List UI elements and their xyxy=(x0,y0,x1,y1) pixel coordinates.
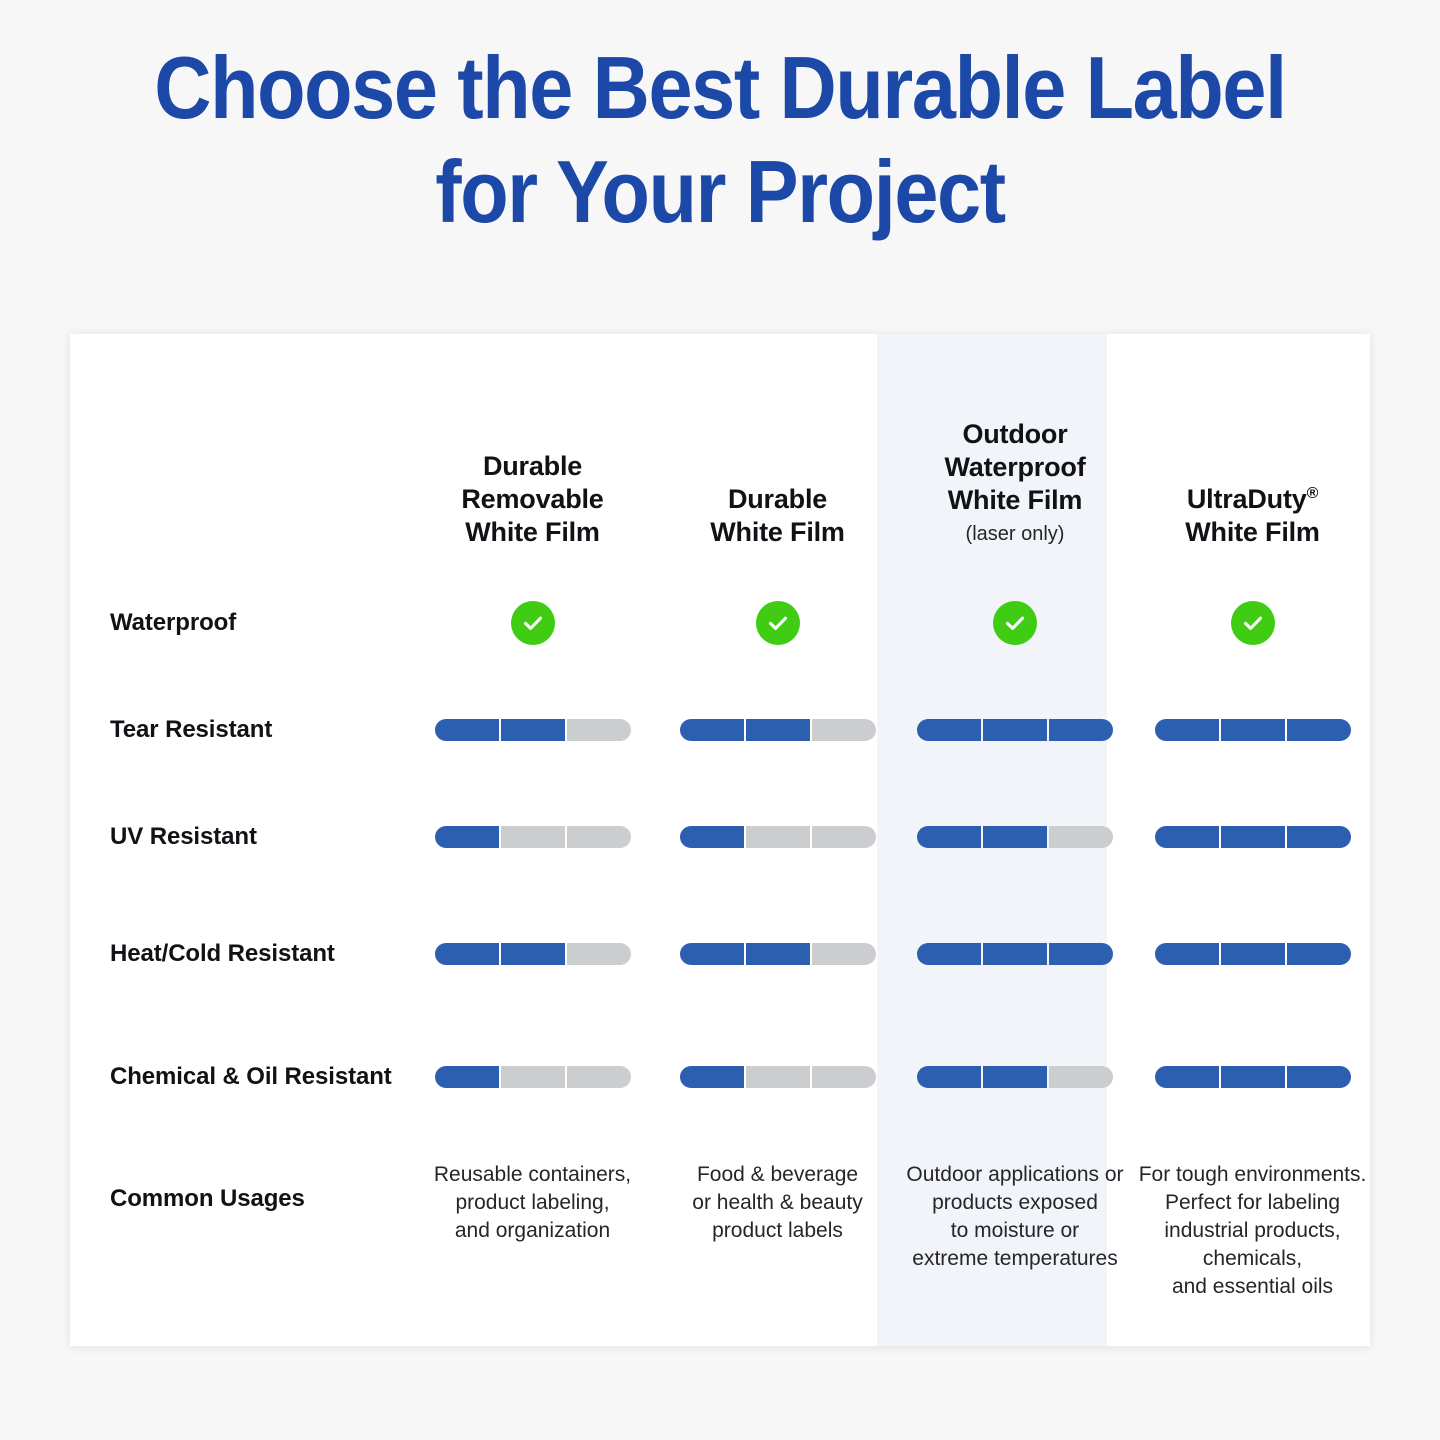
rating-bar xyxy=(917,826,1113,848)
rating-bar xyxy=(1155,826,1351,848)
rating-bar xyxy=(680,719,876,741)
cell-waterproof-durable-removable-white-film xyxy=(410,569,655,677)
row-label-uv-resistant: UV Resistant xyxy=(90,782,410,892)
rating-segment xyxy=(501,719,565,741)
comparison-table-card: Durable Removable White Film Durable Whi… xyxy=(70,334,1370,1346)
check-circle-icon xyxy=(1231,601,1275,645)
rating-segment xyxy=(1155,719,1219,741)
rating-segment xyxy=(983,826,1047,848)
column-header-durable-white-film: Durable White Film xyxy=(655,334,900,569)
rating-segment xyxy=(1049,826,1113,848)
rating-bar xyxy=(680,1066,876,1088)
rating-segment xyxy=(567,943,631,965)
rating-segment xyxy=(983,1066,1047,1088)
rating-segment xyxy=(680,826,744,848)
page-title-line-2: for Your Project xyxy=(72,140,1368,244)
comparison-table-grid: Durable Removable White Film Durable Whi… xyxy=(70,334,1370,1346)
rating-segment xyxy=(567,826,631,848)
rating-segment xyxy=(1049,943,1113,965)
infographic-page: Choose the Best Durable Label for Your P… xyxy=(0,0,1440,1440)
rating-segment xyxy=(1155,943,1219,965)
cell-waterproof-outdoor-waterproof-white-film xyxy=(900,569,1130,677)
column-header-line-1: UltraDuty xyxy=(1187,484,1307,514)
rating-segment xyxy=(435,943,499,965)
column-header-durable-removable-white-film: Durable Removable White Film xyxy=(410,334,655,569)
rating-segment xyxy=(1221,1066,1285,1088)
rating-segment xyxy=(1221,943,1285,965)
rating-bar xyxy=(435,1066,631,1088)
rating-segment xyxy=(812,943,876,965)
row-label-chemical-oil-resistant: Chemical & Oil Resistant xyxy=(90,1015,410,1139)
rating-segment xyxy=(567,1066,631,1088)
rating-bar xyxy=(917,719,1113,741)
column-header-line-1: Durable xyxy=(728,484,827,514)
rating-segment xyxy=(501,1066,565,1088)
rating-segment xyxy=(983,719,1047,741)
usage-text: For tough environments.Perfect for label… xyxy=(1136,1161,1369,1301)
rating-bar xyxy=(680,943,876,965)
column-header-line-2: White Film xyxy=(710,517,845,547)
page-title: Choose the Best Durable Label for Your P… xyxy=(0,36,1440,244)
rating-bar xyxy=(917,1066,1113,1088)
rating-bar xyxy=(1155,1066,1351,1088)
column-header-name: Durable Removable White Film xyxy=(410,450,655,549)
cell-common-usages-durable-white-film: Food & beverageor health & beautyproduct… xyxy=(655,1139,900,1346)
rating-bar xyxy=(917,943,1113,965)
cell-heat-cold-resistant-ultraduty-white-film xyxy=(1130,892,1375,1015)
rating-bar xyxy=(1155,719,1351,741)
column-header-name: Outdoor Waterproof White Film xyxy=(945,418,1086,517)
cell-heat-cold-resistant-durable-removable-white-film xyxy=(410,892,655,1015)
cell-heat-cold-resistant-outdoor-waterproof-white-film xyxy=(900,892,1130,1015)
cell-common-usages-outdoor-waterproof-white-film: Outdoor applications orproducts exposedt… xyxy=(900,1139,1130,1346)
check-circle-icon xyxy=(511,601,555,645)
rating-segment xyxy=(812,1066,876,1088)
cell-uv-resistant-outdoor-waterproof-white-film xyxy=(900,782,1130,892)
cell-chemical-oil-resistant-ultraduty-white-film xyxy=(1130,1015,1375,1139)
rating-segment xyxy=(435,719,499,741)
column-header-line-1: Outdoor xyxy=(962,419,1067,449)
cell-tear-resistant-ultraduty-white-film xyxy=(1130,677,1375,782)
cell-chemical-oil-resistant-durable-removable-white-film xyxy=(410,1015,655,1139)
usage-text: Outdoor applications orproducts exposedt… xyxy=(906,1161,1124,1273)
rating-segment xyxy=(435,1066,499,1088)
rating-segment xyxy=(501,943,565,965)
rating-segment xyxy=(746,719,810,741)
row-label-heat-cold-resistant: Heat/Cold Resistant xyxy=(90,892,410,1015)
column-header-name: Durable White Film xyxy=(710,483,845,549)
rating-segment xyxy=(917,826,981,848)
rating-segment xyxy=(1049,719,1113,741)
cell-heat-cold-resistant-durable-white-film xyxy=(655,892,900,1015)
cell-uv-resistant-durable-removable-white-film xyxy=(410,782,655,892)
rating-segment xyxy=(1221,719,1285,741)
rating-segment xyxy=(1287,719,1351,741)
rating-segment xyxy=(917,943,981,965)
rating-bar xyxy=(680,826,876,848)
rating-bar xyxy=(435,719,631,741)
rating-segment xyxy=(680,943,744,965)
rating-segment xyxy=(1221,826,1285,848)
usage-text: Food & beverageor health & beautyproduct… xyxy=(661,1161,894,1245)
row-label-tear-resistant: Tear Resistant xyxy=(90,677,410,782)
check-circle-icon xyxy=(993,601,1037,645)
cell-common-usages-ultraduty-white-film: For tough environments.Perfect for label… xyxy=(1130,1139,1375,1346)
column-header-line-2: Waterproof xyxy=(945,452,1086,482)
rating-segment xyxy=(501,826,565,848)
usage-text: Reusable containers,product labeling,and… xyxy=(416,1161,649,1245)
cell-chemical-oil-resistant-durable-white-film xyxy=(655,1015,900,1139)
rating-segment xyxy=(567,719,631,741)
check-circle-icon xyxy=(756,601,800,645)
column-header-ultraduty-white-film: UltraDuty® White Film xyxy=(1130,334,1375,569)
rating-segment xyxy=(1155,826,1219,848)
rating-bar xyxy=(435,826,631,848)
rating-segment xyxy=(746,943,810,965)
cell-waterproof-durable-white-film xyxy=(655,569,900,677)
cell-chemical-oil-resistant-outdoor-waterproof-white-film xyxy=(900,1015,1130,1139)
rating-segment xyxy=(917,719,981,741)
registered-trademark-icon: ® xyxy=(1307,485,1319,502)
cell-uv-resistant-durable-white-film xyxy=(655,782,900,892)
cell-waterproof-ultraduty-white-film xyxy=(1130,569,1375,677)
rating-segment xyxy=(435,826,499,848)
row-label-waterproof: Waterproof xyxy=(90,569,410,677)
rating-segment xyxy=(812,826,876,848)
cell-tear-resistant-durable-white-film xyxy=(655,677,900,782)
column-header-outdoor-waterproof-white-film: Outdoor Waterproof White Film (laser onl… xyxy=(900,334,1130,569)
page-title-line-1: Choose the Best Durable Label xyxy=(72,36,1368,140)
rating-segment xyxy=(1287,943,1351,965)
cell-tear-resistant-durable-removable-white-film xyxy=(410,677,655,782)
cell-common-usages-durable-removable-white-film: Reusable containers,product labeling,and… xyxy=(410,1139,655,1346)
rating-bar xyxy=(435,943,631,965)
rating-segment xyxy=(1287,826,1351,848)
column-header-line-2: White Film xyxy=(1185,517,1320,547)
rating-bar xyxy=(1155,943,1351,965)
rating-segment xyxy=(983,943,1047,965)
row-label-common-usages: Common Usages xyxy=(90,1139,410,1346)
rating-segment xyxy=(1049,1066,1113,1088)
rating-segment xyxy=(812,719,876,741)
rating-segment xyxy=(746,826,810,848)
cell-uv-resistant-ultraduty-white-film xyxy=(1130,782,1375,892)
column-header-line-3: White Film xyxy=(948,485,1083,515)
column-header-name: UltraDuty® White Film xyxy=(1185,483,1320,549)
column-header-line-1: Durable Removable xyxy=(461,451,603,514)
table-corner-cell xyxy=(90,334,410,569)
column-header-subtext: (laser only) xyxy=(966,519,1065,549)
rating-segment xyxy=(917,1066,981,1088)
rating-segment xyxy=(680,1066,744,1088)
column-header-line-2: White Film xyxy=(465,517,600,547)
rating-segment xyxy=(680,719,744,741)
rating-segment xyxy=(746,1066,810,1088)
cell-tear-resistant-outdoor-waterproof-white-film xyxy=(900,677,1130,782)
rating-segment xyxy=(1155,1066,1219,1088)
rating-segment xyxy=(1287,1066,1351,1088)
